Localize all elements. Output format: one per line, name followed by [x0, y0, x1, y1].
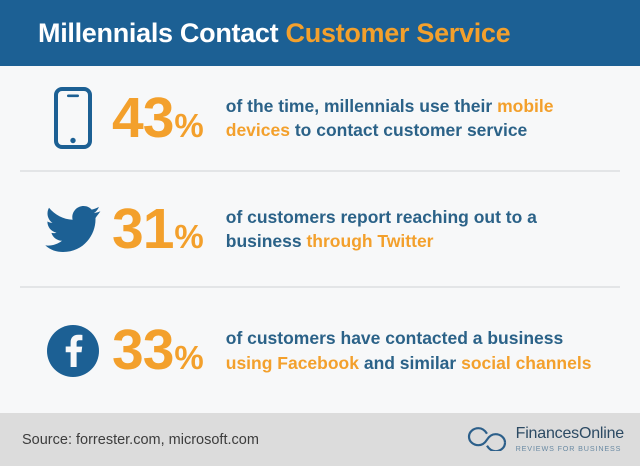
infographic-card: Millennials Contact Customer Service 43 … — [0, 0, 640, 463]
stat-percentage-sign: % — [174, 109, 203, 142]
stat-description: of customers have contacted a business u… — [226, 326, 606, 374]
stat-text-highlight: social channels — [461, 353, 591, 373]
page-title: Millennials Contact Customer Service — [38, 18, 510, 49]
stats-list: 43 % of the time, millennials use their … — [0, 66, 640, 413]
stat-text-highlight: through Twitter — [306, 231, 433, 251]
financesonline-logo: FinancesOnline REVIEWS FOR BUSINESS — [466, 423, 624, 456]
stat-text-highlight: using Facebook — [226, 353, 359, 373]
source-citation: Source: forrester.com, microsoft.com — [22, 432, 259, 448]
stat-row: 31 % of customers report reaching out to… — [20, 172, 620, 286]
stat-description: of customers report reaching out to a bu… — [226, 205, 606, 253]
facebook-icon — [34, 325, 112, 377]
stat-description: of the time, millennials use their mobil… — [226, 94, 606, 142]
stat-percentage-number: 43 — [112, 90, 173, 147]
stat-text-segment: of the time, millennials use their — [226, 96, 497, 116]
stat-percentage-number: 31 — [112, 201, 173, 258]
stat-row: 43 % of the time, millennials use their … — [20, 66, 620, 170]
stat-text-segment: to contact customer service — [290, 120, 527, 140]
logo-text: FinancesOnline REVIEWS FOR BUSINESS — [516, 426, 624, 452]
stat-percentage-sign: % — [174, 341, 203, 374]
page-title-plain: Millennials Contact — [38, 18, 286, 48]
stat-text-segment: of customers have contacted a business — [226, 328, 563, 348]
footer-bar: Source: forrester.com, microsoft.com Fin… — [0, 413, 640, 466]
logo-tagline: REVIEWS FOR BUSINESS — [516, 445, 624, 452]
twitter-bird-icon — [34, 205, 112, 253]
logo-name: FinancesOnline — [516, 426, 624, 442]
header-bar: Millennials Contact Customer Service — [0, 0, 640, 66]
stat-percentage: 33 % — [112, 322, 204, 379]
stat-percentage-number: 33 — [112, 322, 173, 379]
stat-percentage: 31 % — [112, 201, 204, 258]
stat-row: 33 % of customers have contacted a busin… — [20, 288, 620, 413]
page-title-accent: Customer Service — [286, 18, 511, 48]
stat-percentage-sign: % — [174, 220, 203, 253]
stat-text-segment: and similar — [359, 353, 461, 373]
cloud-swirl-icon — [466, 423, 508, 456]
stat-percentage: 43 % — [112, 90, 204, 147]
smartphone-icon — [34, 87, 112, 149]
